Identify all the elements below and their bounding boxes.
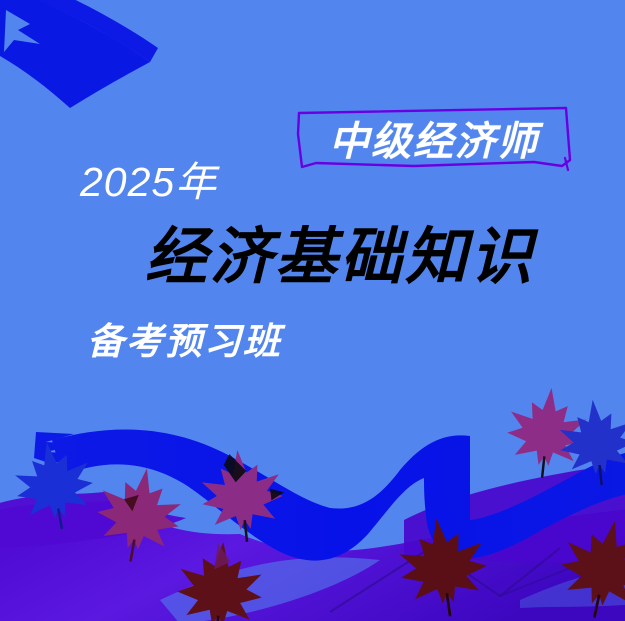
leaf-left-magenta — [90, 461, 188, 568]
leaf-left-blue — [9, 436, 100, 536]
course-subtitle: 备考预习班 — [87, 311, 282, 365]
badge-label: 中级经济师 — [294, 104, 574, 172]
year-label: 2025年 — [80, 148, 217, 208]
leaf-bottom-darkred-2 — [394, 512, 493, 621]
course-poster: 2025年 中级经济师 经济基础知识 备考预习班 — [0, 0, 625, 621]
exam-badge: 中级经济师 — [294, 104, 574, 172]
leaf-center-magenta — [197, 446, 289, 546]
page-title: 经济基础知识 — [145, 206, 535, 296]
leaf-bottom-darkred-1 — [174, 539, 265, 621]
leaf-bottom-darkred-3 — [552, 512, 625, 621]
